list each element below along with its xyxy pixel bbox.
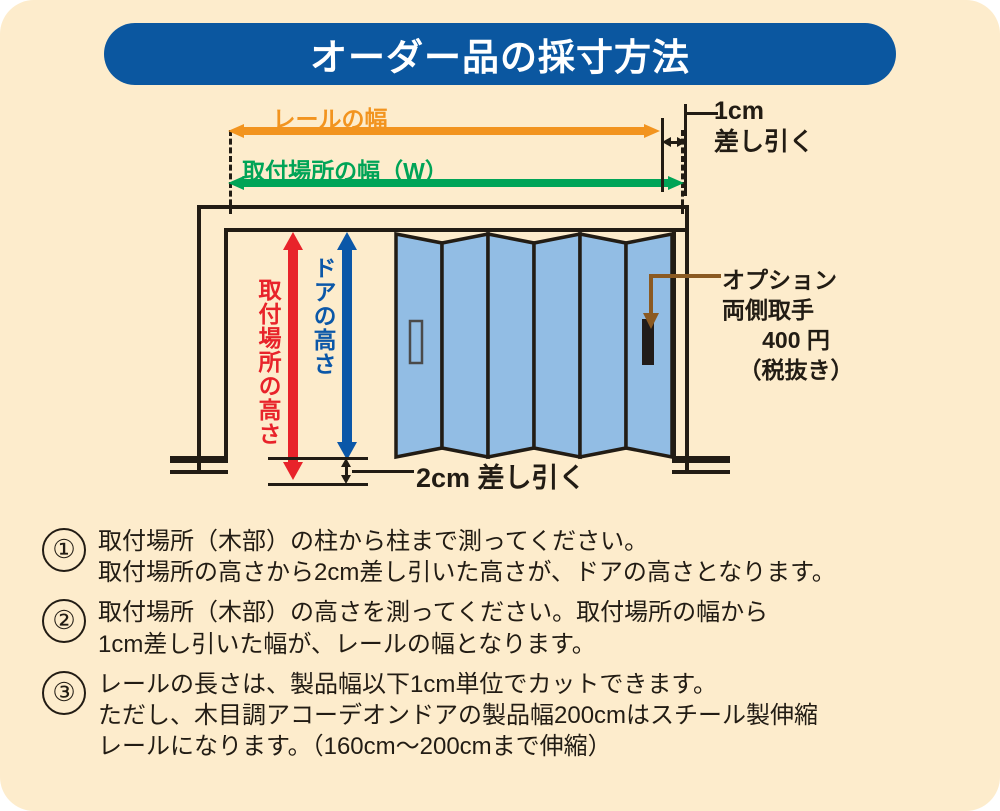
- label-deduct-1cm-text: 差し引く: [714, 127, 844, 158]
- tick-door-bottom: [268, 457, 368, 460]
- instruction-text-3: レールの長さは、製品幅以下1cm単位でカットできます。 ただし、木目調アコーデオ…: [98, 669, 972, 763]
- measurement-guide-page: オーダー品の採寸方法 レールの幅: [0, 0, 1000, 811]
- option-arrow-icon: [643, 313, 659, 329]
- instruction-2-line-1: 取付場所（木部）の高さを測ってください。取付場所の幅から: [98, 597, 972, 628]
- arrow-door-height: [337, 232, 357, 460]
- arrow-head-right: [677, 137, 686, 147]
- frame-lintel-outer: [197, 205, 689, 209]
- tick-rail-end: [661, 118, 664, 192]
- instruction-3-line-1: レールの長さは、製品幅以下1cm単位でカットできます。: [98, 669, 972, 700]
- label-deduct-2cm: 2cm 差し引く: [416, 456, 586, 495]
- instruction-list: ① 取付場所（木部）の柱から柱まで測ってください。 取付場所の高さから2cm差し…: [42, 526, 972, 771]
- arrow-head-right: [644, 124, 660, 138]
- arrow-shaft: [342, 248, 352, 444]
- option-line-1: オプション: [722, 266, 892, 296]
- instruction-number-3: ③: [42, 671, 86, 715]
- instruction-3-line-3: レールになります。（160cm〜200cmまで伸縮）: [98, 731, 972, 762]
- arrow-shaft: [242, 127, 646, 135]
- option-line-4: （税抜き）: [722, 356, 870, 386]
- instruction-3-line-2: ただし、木目調アコーデオンドアの製品幅200cmはスチール製伸縮: [98, 700, 972, 731]
- arrow-2cm-gap: [341, 458, 352, 484]
- frame-post-outer-left: [197, 205, 201, 470]
- instruction-number-2: ②: [42, 599, 86, 643]
- leader-line-2cm: [352, 470, 414, 473]
- option-callout: オプション 両側取手 400 円 （税抜き）: [722, 266, 892, 386]
- arrow-head-right: [668, 176, 684, 190]
- instruction-2-line-2: 1cm差し引いた幅が、レールの幅となります。: [98, 629, 972, 660]
- frame-sill-right: [672, 470, 730, 474]
- accordion-door-illustration: [394, 231, 675, 460]
- arrow-1cm-gap: [662, 137, 686, 148]
- instruction-1-line-1: 取付場所（木部）の柱から柱まで測ってください。: [98, 526, 972, 557]
- instruction-1-line-2: 取付場所の高さから2cm差し引いた高さが、ドアの高さとなります。: [98, 557, 972, 588]
- option-line-2: 両側取手: [722, 296, 892, 326]
- option-line-3: 400 円: [722, 326, 870, 356]
- option-leader-line: [649, 274, 721, 278]
- instruction-item-3: ③ レールの長さは、製品幅以下1cm単位でカットできます。 ただし、木目調アコー…: [42, 669, 972, 763]
- label-deduct-1cm: 1cm 差し引く: [714, 96, 844, 157]
- arrow-shaft: [242, 179, 670, 187]
- frame-post-inner-left: [224, 228, 228, 460]
- instruction-text-2: 取付場所（木部）の高さを測ってください。取付場所の幅から 1cm差し引いた幅が、…: [98, 597, 972, 659]
- arrow-shaft: [288, 248, 298, 464]
- arrow-head-bottom: [341, 475, 351, 484]
- option-arrow-stem: [649, 274, 653, 318]
- arrow-opening-width: [228, 176, 684, 190]
- label-door-height: ドアの高さ: [311, 256, 334, 376]
- arrow-head-bottom: [283, 462, 303, 480]
- page-title: オーダー品の採寸方法: [310, 27, 690, 81]
- frame-sill-left: [170, 470, 228, 474]
- arrow-opening-height: [283, 232, 303, 480]
- label-deduct-1cm-value: 1cm: [714, 96, 844, 127]
- tick-floor: [268, 483, 368, 486]
- title-banner: オーダー品の採寸方法: [104, 23, 896, 85]
- instruction-item-1: ① 取付場所（木部）の柱から柱まで測ってください。 取付場所の高さから2cm差し…: [42, 526, 972, 588]
- instruction-item-2: ② 取付場所（木部）の高さを測ってください。取付場所の幅から 1cm差し引いた幅…: [42, 597, 972, 659]
- frame-post-outer-right: [685, 205, 689, 470]
- instruction-text-1: 取付場所（木部）の柱から柱まで測ってください。 取付場所の高さから2cm差し引い…: [98, 526, 972, 588]
- arrow-rail-width: [228, 124, 660, 138]
- frame-foot-left: [170, 456, 228, 463]
- leader-line-horizontal: [684, 112, 718, 115]
- frame-foot-right: [672, 456, 730, 463]
- label-opening-height: 取付場所の高さ: [256, 278, 279, 446]
- instruction-number-1: ①: [42, 528, 86, 572]
